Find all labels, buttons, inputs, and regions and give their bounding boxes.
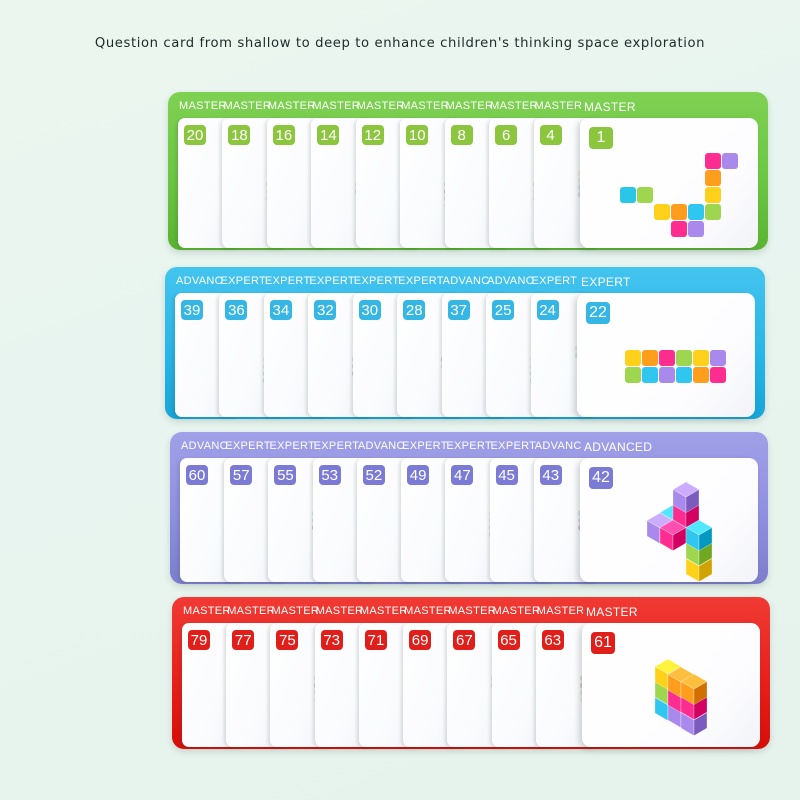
card-number-badge: 28: [403, 300, 425, 320]
featured-card-puzzle-art: [625, 350, 727, 384]
card-number-badge: 4: [540, 125, 562, 145]
puzzle-tile: [642, 350, 658, 366]
card-number-badge: 8: [451, 125, 473, 145]
puzzle-cube: [686, 520, 712, 551]
card-tier-label: MASTER: [179, 100, 225, 112]
puzzle-tile: [625, 350, 641, 366]
puzzle-tile: [722, 153, 738, 169]
card-number-badge: 32: [314, 300, 336, 320]
card-tier-label: EXPERT: [491, 440, 537, 452]
card-number-badge: 14: [317, 125, 339, 145]
puzzle-tile: [705, 204, 721, 220]
puzzle-cube: [673, 482, 699, 513]
card-tier-label: MASTER: [312, 100, 358, 112]
card-number-badge: 57: [230, 465, 252, 485]
card-tier-label: MASTER: [357, 100, 403, 112]
card-tier-label: EXPERT: [220, 275, 266, 287]
featured-question-card[interactable]: 22: [577, 293, 755, 417]
card-tier-label: MASTER: [268, 100, 314, 112]
card-row-red-row[interactable]: MASTER79MASTER77MASTER75MASTER73MASTER71…: [172, 597, 770, 749]
card-tier-label: MASTER: [448, 605, 494, 617]
card-number-badge: 24: [537, 300, 559, 320]
puzzle-tile: [693, 367, 709, 383]
card-tier-label: MASTER: [316, 605, 362, 617]
puzzle-tile: [693, 350, 709, 366]
card-tier-label: EXPERT: [354, 275, 400, 287]
card-tier-label: EXPERT: [314, 440, 360, 452]
featured-card-tier-label: MASTER: [586, 605, 746, 619]
puzzle-tile: [642, 367, 658, 383]
card-number-badge: 43: [540, 465, 562, 485]
card-tier-label: EXPERT: [402, 440, 448, 452]
featured-card-number-badge: 61: [591, 632, 615, 654]
puzzle-tile: [620, 187, 636, 203]
puzzle-tile: [705, 153, 721, 169]
card-number-badge: 25: [492, 300, 514, 320]
card-tier-label: ADVANCED: [176, 275, 222, 287]
card-number-badge: 18: [228, 125, 250, 145]
card-number-badge: 39: [181, 300, 203, 320]
card-number-badge: 71: [365, 630, 387, 650]
card-tier-label: MASTER: [535, 100, 581, 112]
card-tier-label: MASTER: [446, 100, 492, 112]
featured-card-puzzle-art: [655, 659, 707, 736]
card-tier-label: MASTER: [401, 100, 447, 112]
card-number-badge: 49: [407, 465, 429, 485]
card-tier-label: ADVANCED: [535, 440, 581, 452]
puzzle-tile: [659, 367, 675, 383]
featured-question-card[interactable]: 42: [580, 458, 758, 582]
card-number-badge: 75: [276, 630, 298, 650]
card-number-badge: 30: [359, 300, 381, 320]
card-tier-label: ADVANCED: [443, 275, 489, 287]
card-number-badge: 36: [225, 300, 247, 320]
card-number-badge: 45: [496, 465, 518, 485]
puzzle-tile: [710, 367, 726, 383]
featured-card-tier-label: MASTER: [584, 100, 744, 114]
card-number-badge: 12: [362, 125, 384, 145]
featured-card-tier-label: EXPERT: [581, 275, 741, 289]
card-row-blue-row[interactable]: ADVANCED39EXPERT36EXPERT34EXPERT32EXPERT…: [165, 267, 765, 419]
featured-question-card[interactable]: 61: [582, 623, 760, 747]
featured-card-number-badge: 1: [589, 127, 613, 149]
card-number-badge: 65: [498, 630, 520, 650]
card-number-badge: 60: [186, 465, 208, 485]
puzzle-tile: [688, 221, 704, 237]
card-tier-label: MASTER: [537, 605, 583, 617]
puzzle-tile: [688, 204, 704, 220]
featured-card-number-badge: 22: [586, 302, 610, 324]
puzzle-tile: [671, 204, 687, 220]
card-tier-label: EXPERT: [398, 275, 444, 287]
puzzle-tile: [705, 187, 721, 203]
featured-card-puzzle-art: [647, 482, 712, 582]
card-tier-label: EXPERT: [225, 440, 271, 452]
card-tier-label: EXPERT: [265, 275, 311, 287]
puzzle-tile: [705, 170, 721, 186]
card-number-badge: 53: [319, 465, 341, 485]
puzzle-cube: [681, 674, 707, 705]
card-number-badge: 20: [184, 125, 206, 145]
card-number-badge: 37: [448, 300, 470, 320]
card-tier-label: EXPERT: [269, 440, 315, 452]
puzzle-tile: [710, 350, 726, 366]
featured-card-number-badge: 42: [589, 467, 613, 489]
puzzle-tile: [654, 204, 670, 220]
card-number-badge: 69: [409, 630, 431, 650]
puzzle-tile: [625, 367, 641, 383]
card-tier-label: MASTER: [223, 100, 269, 112]
card-tier-label: ADVANCED: [358, 440, 404, 452]
card-tier-label: MASTER: [360, 605, 406, 617]
card-tier-label: MASTER: [183, 605, 229, 617]
card-number-badge: 10: [406, 125, 428, 145]
card-row-green-row[interactable]: MASTER20MASTER18MASTER16MASTER14MASTER12…: [168, 92, 768, 250]
featured-card-tier-label: ADVANCED: [584, 440, 744, 454]
card-number-badge: 6: [495, 125, 517, 145]
card-number-badge: 67: [453, 630, 475, 650]
card-tier-label: EXPERT: [446, 440, 492, 452]
card-number-badge: 73: [321, 630, 343, 650]
card-number-badge: 34: [270, 300, 292, 320]
card-tier-label: ADVANCED: [181, 440, 227, 452]
puzzle-tile: [671, 221, 687, 237]
page-caption: Question card from shallow to deep to en…: [0, 36, 800, 51]
card-tier-label: MASTER: [404, 605, 450, 617]
card-tier-label: EXPERT: [309, 275, 355, 287]
puzzle-cube: [660, 520, 686, 551]
card-tier-label: EXPERT: [532, 275, 578, 287]
card-tier-label: ADVANCED: [487, 275, 533, 287]
card-number-badge: 47: [451, 465, 473, 485]
card-number-badge: 77: [232, 630, 254, 650]
puzzle-tile: [659, 350, 675, 366]
card-tier-label: MASTER: [271, 605, 317, 617]
puzzle-tile: [676, 350, 692, 366]
card-number-badge: 55: [274, 465, 296, 485]
card-row-purple-row[interactable]: ADVANCED60EXPERT57EXPERT55EXPERT53ADVANC…: [170, 432, 768, 584]
card-number-badge: 52: [363, 465, 385, 485]
puzzle-tile: [676, 367, 692, 383]
card-number-badge: 16: [273, 125, 295, 145]
card-tier-label: MASTER: [490, 100, 536, 112]
puzzle-tile: [637, 187, 653, 203]
card-tier-label: MASTER: [227, 605, 273, 617]
featured-card-puzzle-art: [620, 153, 739, 238]
card-number-badge: 63: [542, 630, 564, 650]
featured-question-card[interactable]: 1: [580, 118, 758, 248]
card-tier-label: MASTER: [493, 605, 539, 617]
card-number-badge: 79: [188, 630, 210, 650]
